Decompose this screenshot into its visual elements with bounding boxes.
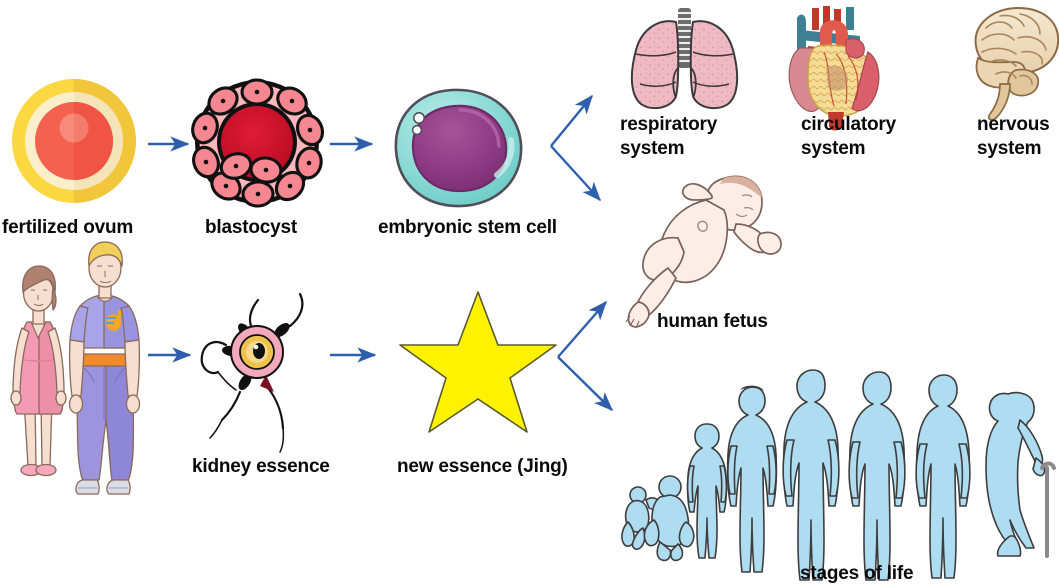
label-human-fetus: human fetus <box>657 310 768 334</box>
fertilized-ovum-icon <box>12 79 136 203</box>
heart-icon <box>789 6 879 131</box>
label-new-essence: new essence (Jing) <box>397 455 568 479</box>
silhouette-elderly-with-cane <box>986 393 1054 556</box>
silhouette-infant-sitting <box>644 476 693 560</box>
arrow-stemcell-to-fetus <box>551 146 600 200</box>
label-kidney-essence: kidney essence <box>192 455 330 479</box>
label-circulatory-system: circulatory system <box>801 113 896 161</box>
blastocyst-icon <box>189 80 327 207</box>
arrow-essence-to-stages <box>558 357 612 410</box>
silhouette-adult <box>849 372 905 580</box>
new-essence-star-icon <box>400 292 556 432</box>
silhouette-mature-adult <box>916 375 970 578</box>
brain-icon <box>976 8 1059 120</box>
silhouette-young-adult <box>783 370 839 580</box>
human-fetus-icon <box>626 176 781 328</box>
arrow-stemcell-to-organs <box>551 96 592 146</box>
branch-new-essence <box>558 302 612 410</box>
lungs-icon <box>632 8 737 108</box>
woman-figure-icon <box>11 266 66 476</box>
label-embryonic-stem-cell: embryonic stem cell <box>378 216 557 240</box>
stages-of-life-icon <box>622 370 1054 580</box>
diagram-artwork <box>0 0 1059 587</box>
kidney-essence-icon <box>202 294 303 452</box>
label-stages-of-life: stages of life <box>800 562 913 586</box>
label-fertilized-ovum: fertilized ovum <box>2 216 133 240</box>
embryonic-stem-cell-icon <box>396 90 521 206</box>
arrow-essence-to-fetus <box>558 302 606 357</box>
label-blastocyst: blastocyst <box>205 216 297 240</box>
man-figure-icon <box>70 242 140 494</box>
label-respiratory-system: respiratory system <box>620 113 717 161</box>
diagram-canvas: fertilized ovum blastocyst embryonic ste… <box>0 0 1059 587</box>
label-nervous-system: nervous system <box>977 113 1050 161</box>
branch-stemcell <box>551 96 600 200</box>
silhouette-adolescent <box>728 386 777 572</box>
